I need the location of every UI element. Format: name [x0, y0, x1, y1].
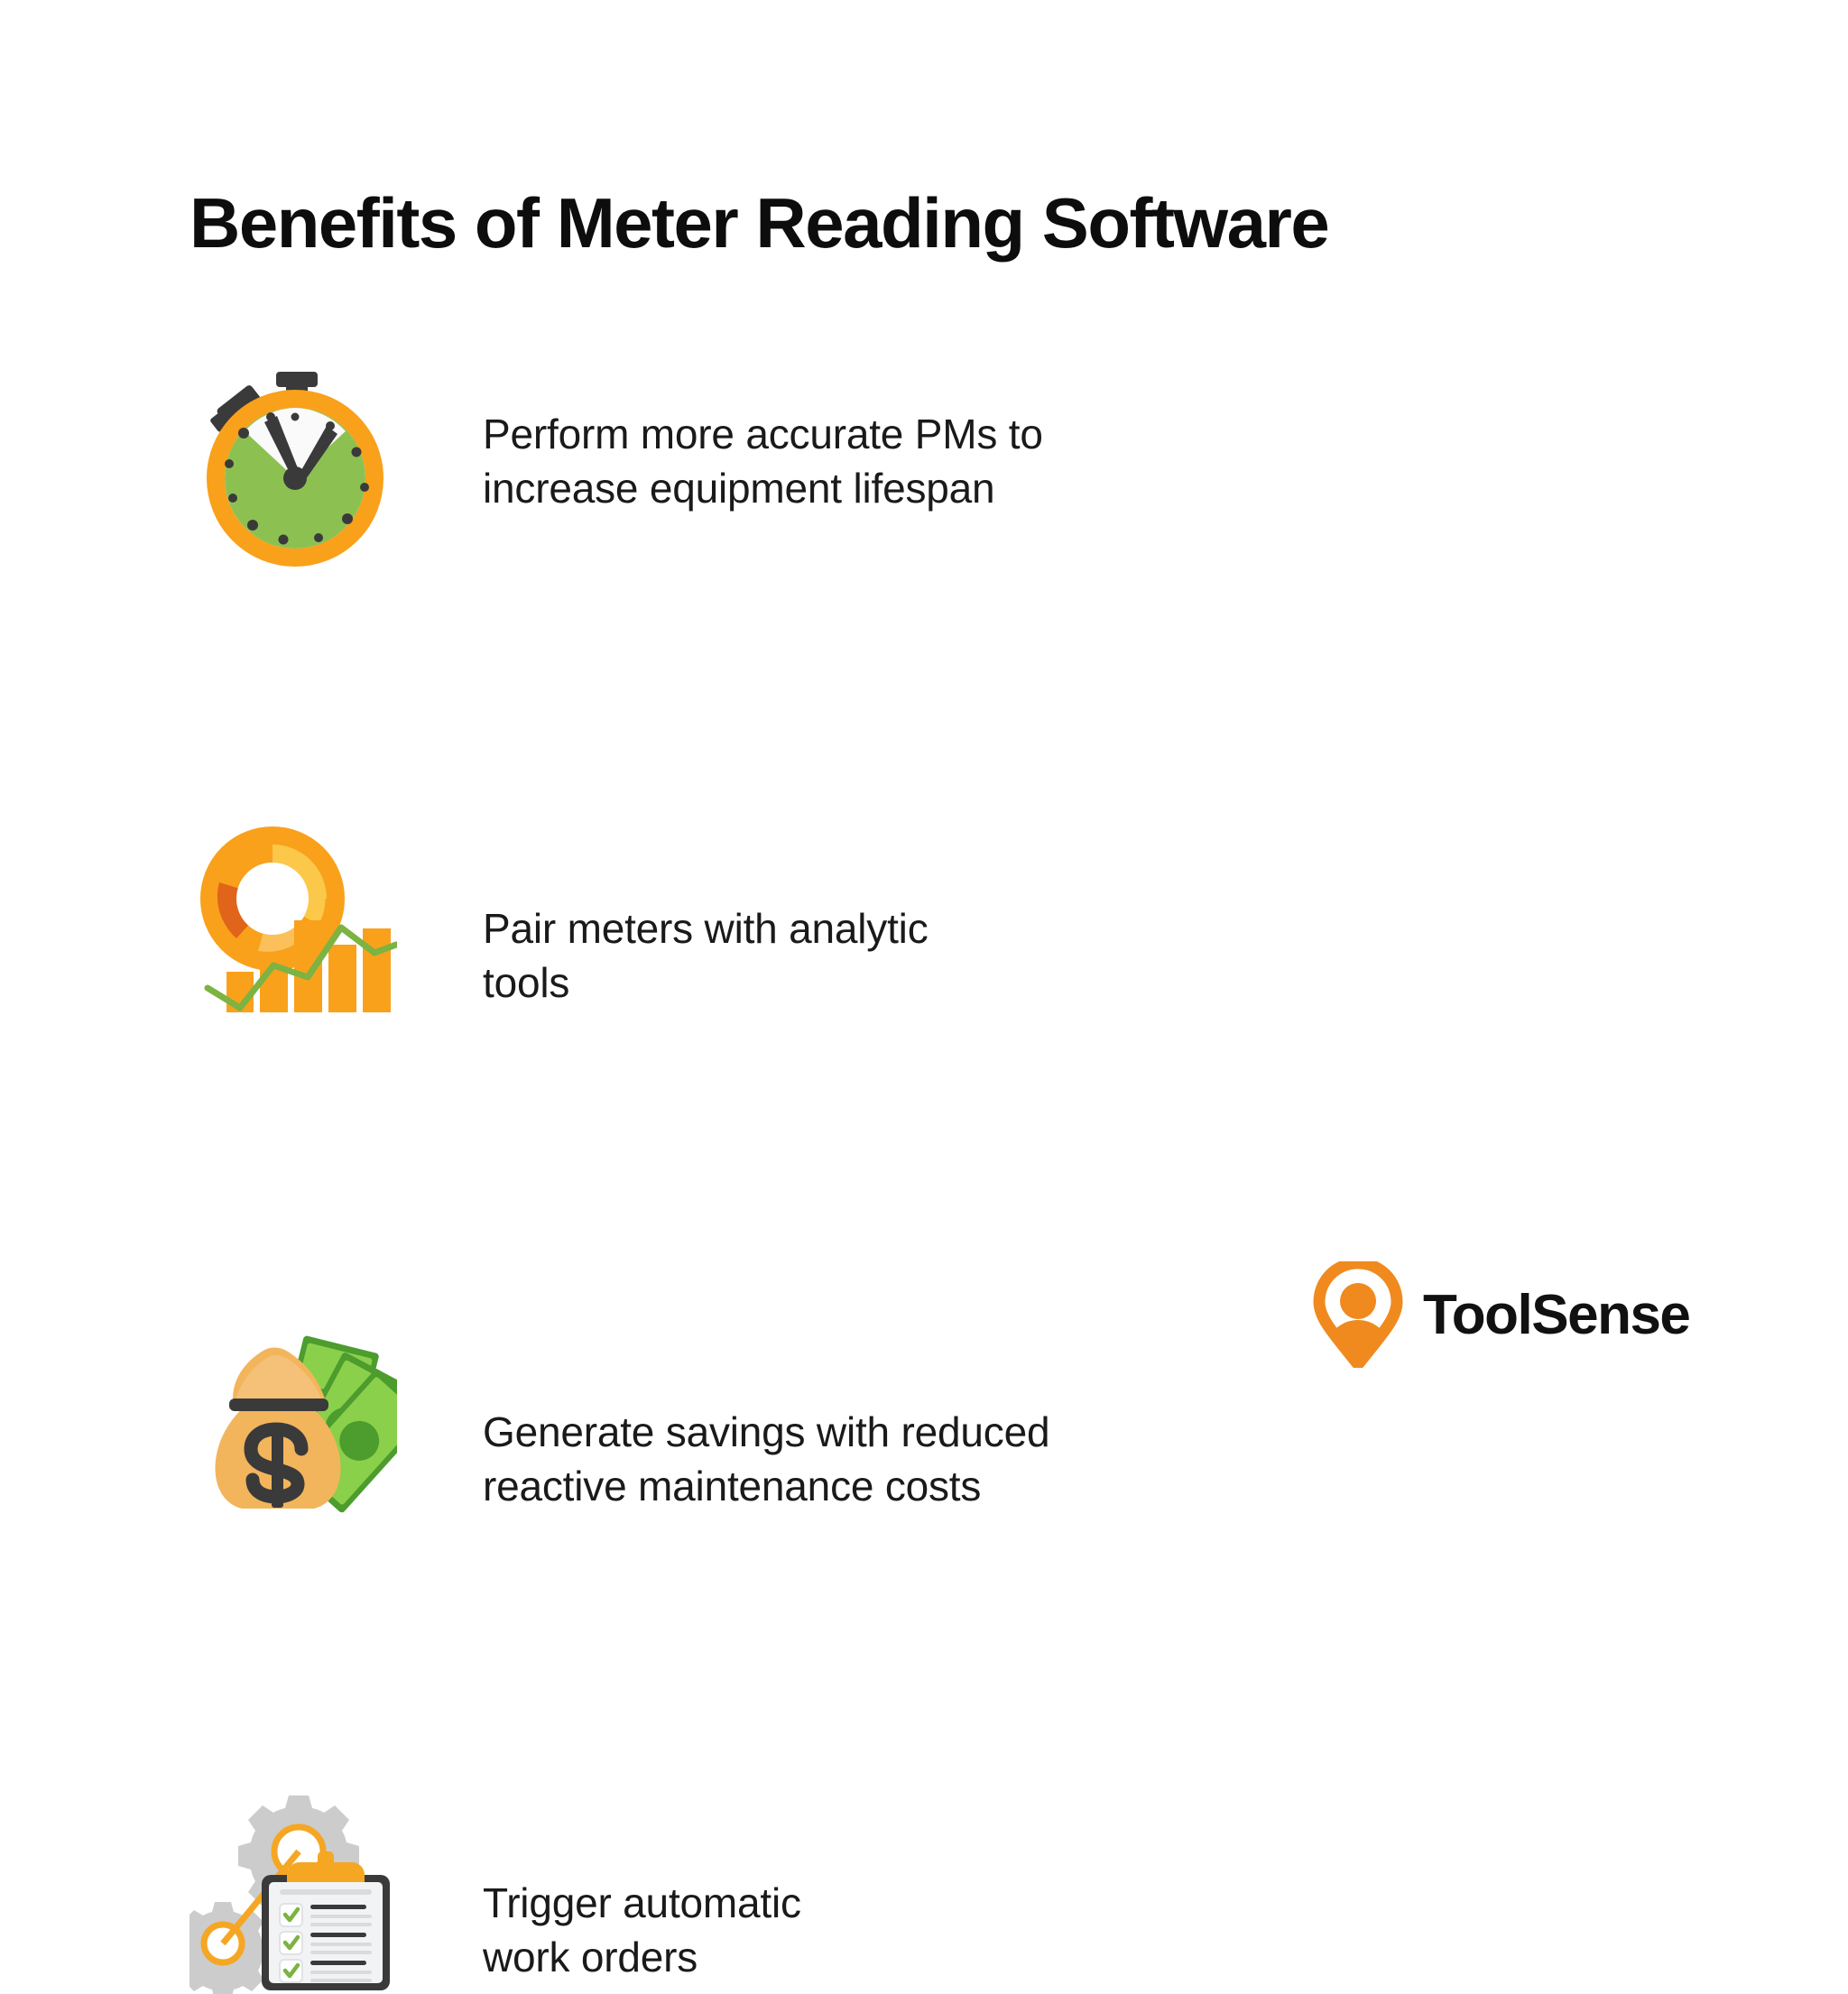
page-title: Benefits of Meter Reading Software [189, 187, 1328, 261]
logo-wordmark: ToolSense [1423, 1283, 1689, 1347]
benefit-line-3a: Generate savings with reduced [483, 1406, 1049, 1460]
benefit-line-4b: work orders [483, 1931, 801, 1985]
benefit-line-4a: Trigger automatic [483, 1877, 801, 1931]
clipboard-gears-icon [189, 1786, 397, 1994]
benefits-list: Perform more accurate PMs to increase eq… [0, 352, 1848, 1290]
benefit-line-1a: Perform more accurate PMs to [483, 408, 1043, 462]
infographic-page: Benefits of Meter Reading Software [0, 0, 1848, 1478]
benefit-item-2: Pair meters with analytic tools [0, 586, 1848, 821]
benefit-text-4: Trigger automatic work orders [483, 1877, 801, 1985]
toolsense-pin-logo [1313, 1261, 1403, 1368]
stopwatch-icon [189, 361, 397, 568]
money-bag-icon [189, 1308, 397, 1516]
benefit-text-1: Perform more accurate PMs to increase eq… [483, 408, 1043, 516]
benefit-item-3: Generate savings with reduced reactive m… [0, 821, 1848, 1056]
benefit-line-3b: reactive maintenance costs [483, 1460, 1049, 1514]
benefit-item-4: Trigger automatic work orders [0, 1056, 1848, 1290]
benefit-item-1: Perform more accurate PMs to increase eq… [0, 352, 1848, 586]
benefit-text-3: Generate savings with reduced reactive m… [483, 1406, 1049, 1514]
brand-logo: ToolSense [1313, 1261, 1689, 1368]
benefit-line-1b: increase equipment lifespan [483, 462, 1043, 516]
